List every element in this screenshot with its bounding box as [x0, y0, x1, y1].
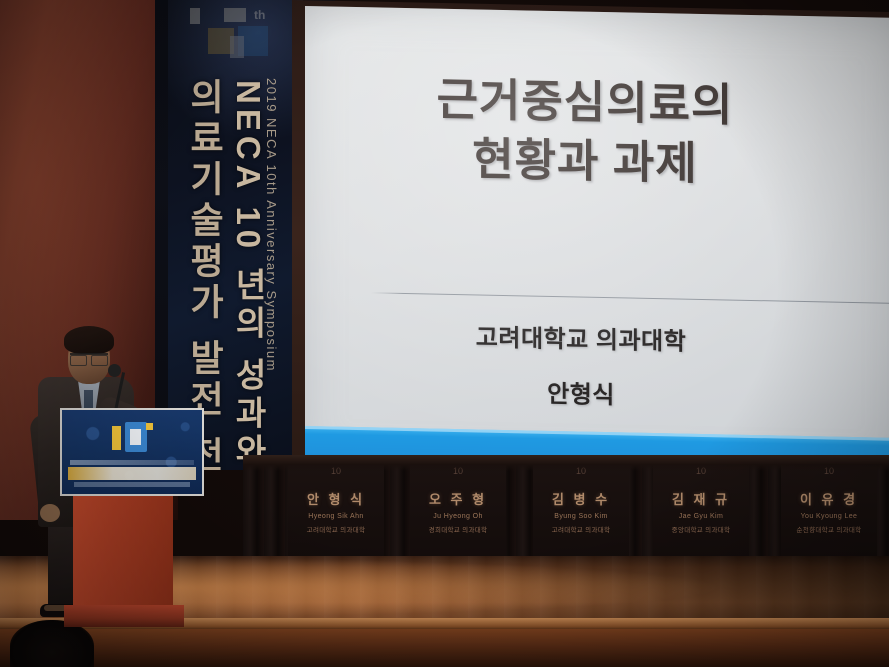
nameplate-english: You Kyoung Lee [781, 513, 877, 520]
microphone-icon [108, 364, 121, 377]
podium-placard-tagline [70, 460, 194, 465]
slide-divider [371, 292, 889, 304]
podium-logo-icon [112, 422, 154, 456]
slide-title: 근거중심의료의 현황과 과제 [305, 68, 865, 196]
nameplate-affiliation: 순천향대학교 의과대학 [781, 524, 877, 534]
podium-column [73, 488, 173, 608]
podium-placard-subtitle [74, 482, 190, 487]
nameplate-affiliation: 중앙대학교 의과대학 [653, 524, 749, 534]
anniversary-logo-icon: th [186, 6, 291, 68]
banner-th-suffix: th [254, 8, 265, 22]
nameplate-5: 10 이 유 경 You Kyoung Lee 순천향대학교 의과대학 [781, 463, 877, 559]
nameplate-english: Jae Gyu Kim [653, 513, 749, 520]
slide-presenter-name: 안형식 [305, 369, 857, 415]
speaker-left-hand [40, 504, 60, 522]
conference-stage-photo: th 의료기술평가 발전 전략 NECA 10 년의 성과와 2019 NECA… [0, 0, 889, 667]
speaker-glasses-icon [70, 353, 108, 364]
slide-affiliation: 고려대학교 의과대학 [305, 314, 857, 360]
nameplate-1: 10 안 형 식 Hyeong Sik Ahn 고려대학교 의과대학 [288, 463, 384, 559]
stage-curtain: 10 안 형 식 Hyeong Sik Ahn 고려대학교 의과대학 10 오 … [243, 455, 889, 565]
slide-title-line2: 현황과 과제 [305, 127, 865, 197]
nameplate-affiliation: 경희대학교 의과대학 [410, 524, 506, 534]
nameplate-english: Byung Soo Kim [533, 513, 629, 520]
banner-english-title: 2019 NECA 10th Anniversary Symposium [264, 78, 279, 372]
audience-member-silhouette [10, 620, 94, 667]
nameplate-korean: 이 유 경 [781, 489, 877, 508]
nameplate-affiliation: 고려대학교 의과대학 [533, 524, 629, 534]
speaker-hair [64, 326, 114, 354]
symposium-banner: th 의료기술평가 발전 전략 NECA 10 년의 성과와 2019 NECA… [168, 0, 303, 470]
nameplate-english: Hyeong Sik Ahn [288, 513, 384, 520]
stage-apron [0, 629, 889, 667]
projection-screen: 근거중심의료의 현황과 과제 고려대학교 의과대학 안형식 [305, 6, 889, 474]
podium-placard-title [68, 467, 196, 480]
nameplate-korean: 김 병 수 [533, 489, 629, 508]
nameplate-english: Ju Hyeong Oh [410, 513, 506, 520]
podium-base [64, 605, 184, 627]
nameplate-4: 10 김 재 규 Jae Gyu Kim 중앙대학교 의과대학 [653, 463, 749, 559]
nameplate-korean: 김 재 규 [653, 489, 749, 508]
nameplate-korean: 안 형 식 [288, 489, 384, 508]
curtain-top-shadow [243, 455, 889, 471]
nameplate-3: 10 김 병 수 Byung Soo Kim 고려대학교 의과대학 [533, 463, 629, 559]
nameplate-2: 10 오 주 형 Ju Hyeong Oh 경희대학교 의과대학 [410, 463, 506, 559]
podium-placard [60, 408, 204, 496]
nameplate-korean: 오 주 형 [410, 489, 506, 508]
nameplate-affiliation: 고려대학교 의과대학 [288, 524, 384, 534]
